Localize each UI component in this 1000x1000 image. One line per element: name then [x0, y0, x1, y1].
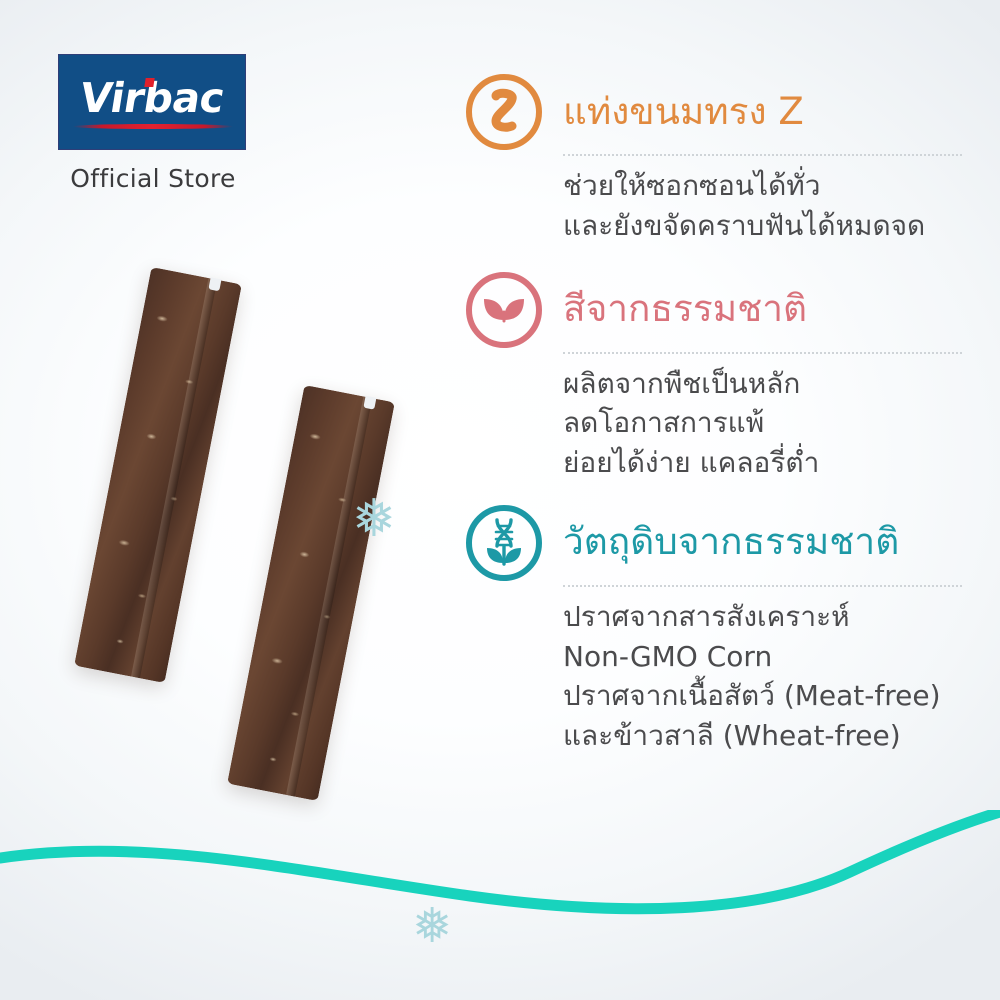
promo-banner: Virbac Official Store ❅ ❅ แท่งขนมทรง Z — [0, 0, 1000, 1000]
two-leaves-icon — [462, 268, 546, 352]
feature-line: ปราศจากสารสังเคราะห์ — [563, 597, 962, 637]
feature-title: แท่งขนมทรง Z — [563, 93, 804, 132]
stick-ridge — [286, 396, 372, 796]
virbac-logo: Virbac — [58, 54, 246, 150]
feature-header: วัตถุดิบจากธรรมชาติ — [462, 501, 962, 585]
feature-line: ลดโอกาสการแพ้ — [563, 403, 962, 443]
z-stick-icon — [462, 70, 546, 154]
feature-line: ช่วยให้ซอกซอนได้ทั่ว — [563, 166, 962, 206]
dental-chew-stick — [227, 385, 395, 801]
stick-notch — [363, 396, 376, 410]
feature-line: ปราศจากเนื้อสัตว์ (Meat-free) — [563, 676, 962, 716]
feature-item-z-shape: แท่งขนมทรง Z ช่วยให้ซอกซอนได้ทั่ว และยัง… — [462, 70, 962, 246]
feature-title: วัตถุดิบจากธรรมชาติ — [563, 523, 899, 562]
product-image: ❅ ❅ — [60, 250, 460, 830]
feature-body: ปราศจากสารสังเคราะห์ Non-GMO Corn ปราศจา… — [563, 585, 962, 756]
feature-item-natural-ingredients: วัตถุดิบจากธรรมชาติ ปราศจากสารสังเคราะห์… — [462, 501, 962, 756]
stick-ridge — [131, 278, 217, 678]
bottom-wave-decoration — [0, 810, 1000, 1000]
feature-title: สีจากธรรมชาติ — [563, 290, 807, 329]
virbac-logo-dot-icon — [144, 78, 154, 87]
brand-block: Virbac Official Store — [58, 54, 248, 193]
dental-chew-stick — [74, 267, 242, 683]
feature-header: สีจากธรรมชาติ — [462, 268, 962, 352]
feature-line: และยังขจัดคราบฟันได้หมดจด — [563, 206, 962, 246]
feature-body: ผลิตจากพืชเป็นหลัก ลดโอกาสการแพ้ ย่อยได้… — [563, 352, 962, 483]
feature-line: ผลิตจากพืชเป็นหลัก — [563, 364, 962, 404]
dna-plant-icon — [462, 501, 546, 585]
virbac-logo-swoosh-icon — [73, 124, 233, 129]
feature-line: ย่อยได้ง่าย แคลอรี่ต่ำ — [563, 443, 962, 483]
feature-body: ช่วยให้ซอกซอนได้ทั่ว และยังขจัดคราบฟันได… — [563, 154, 962, 246]
stick-notch — [208, 277, 221, 291]
snowflake-icon: ❅ — [352, 493, 396, 545]
feature-line: และข้าวสาลี (Wheat-free) — [563, 716, 962, 756]
official-store-label: Official Store — [58, 164, 248, 193]
feature-item-natural-color: สีจากธรรมชาติ ผลิตจากพืชเป็นหลัก ลดโอกาส… — [462, 268, 962, 483]
feature-line: Non-GMO Corn — [563, 637, 962, 677]
feature-list: แท่งขนมทรง Z ช่วยให้ซอกซอนได้ทั่ว และยัง… — [462, 70, 962, 776]
feature-header: แท่งขนมทรง Z — [462, 70, 962, 154]
